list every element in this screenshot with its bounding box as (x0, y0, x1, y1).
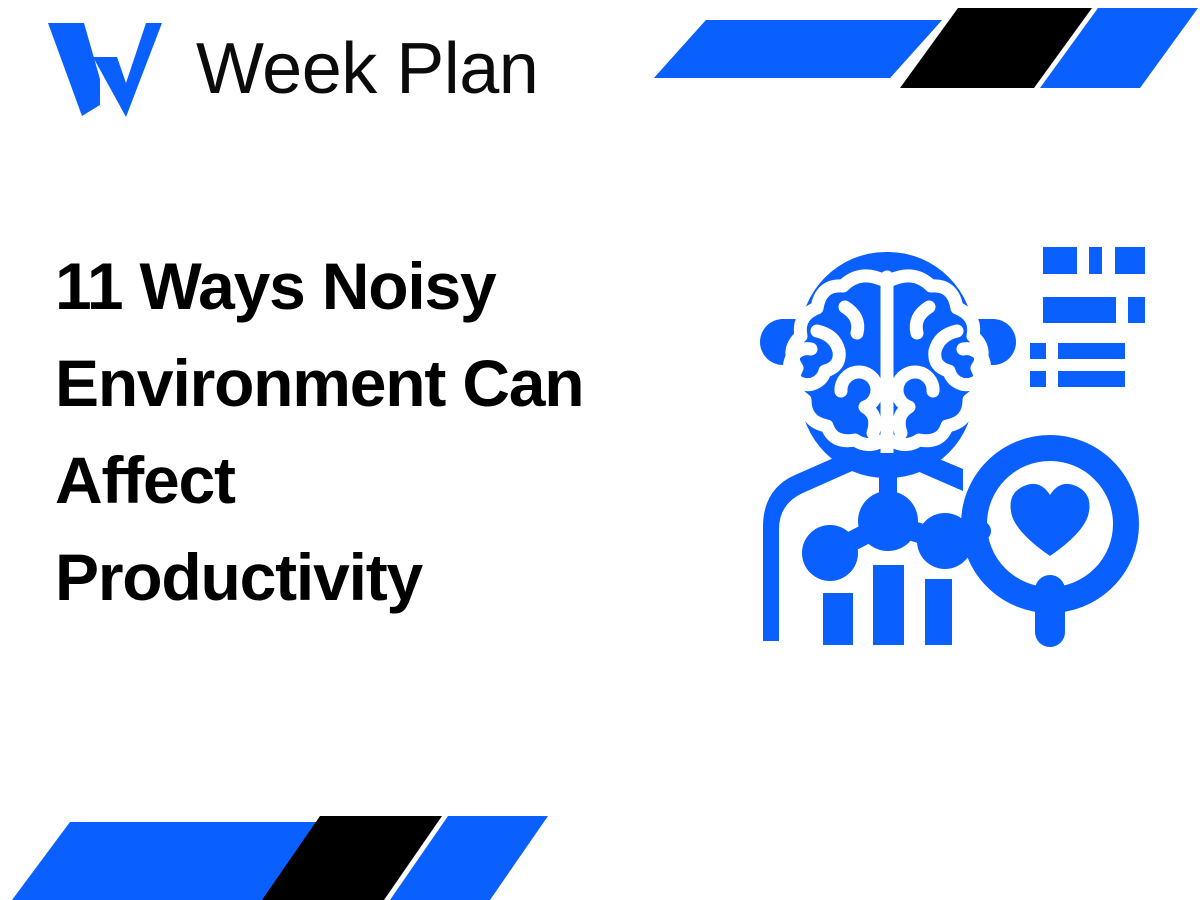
stripe-blue-narrow (1040, 8, 1198, 88)
title-line-3: Affect (55, 432, 745, 529)
heart-shape (1011, 484, 1090, 556)
title-line-4: Productivity (55, 529, 745, 626)
text-block-r3c2 (1058, 343, 1125, 359)
text-block-r4c2 (1058, 371, 1125, 387)
stripe-blue-wide (12, 822, 320, 900)
stripe-black (262, 816, 442, 900)
cover-canvas: Week Plan 11 Ways Noisy Environment Can … (0, 0, 1200, 900)
week-plan-w-logo-icon (30, 17, 162, 121)
title-line-2: Environment Can (55, 335, 745, 432)
line-graph-node-1 (802, 525, 858, 581)
brand-name: Week Plan (196, 33, 538, 105)
text-block-r2c2 (1128, 297, 1145, 323)
text-lines-icon (1030, 247, 1145, 387)
text-block-r4c1 (1030, 371, 1046, 387)
text-block-r2c1 (1043, 297, 1116, 323)
text-block-r1c2 (1089, 247, 1102, 274)
bottom-left-stripe-banner (0, 800, 620, 900)
stripe-blue-narrow (390, 816, 548, 900)
line-graph-node-2 (858, 491, 918, 551)
text-block-r1c3 (1115, 247, 1145, 274)
bar-chart-bar-1 (823, 593, 853, 645)
text-block-r1c1 (1043, 247, 1077, 274)
logo-left-stroke (48, 23, 100, 116)
brain-analytics-illustration (745, 235, 1145, 665)
text-block-r3c1 (1030, 343, 1046, 359)
bar-chart-bar-3 (925, 579, 952, 645)
brand-header: Week Plan (30, 14, 538, 124)
bar-chart-bar-2 (873, 565, 904, 645)
logo-right-v (93, 23, 162, 117)
page-title: 11 Ways Noisy Environment Can Affect Pro… (55, 238, 745, 626)
magnifier-heart-icon (974, 448, 1126, 647)
top-right-stripe-banner (640, 0, 1200, 110)
title-line-1: 11 Ways Noisy (55, 238, 745, 335)
stripe-blue-wide (654, 20, 942, 78)
stripe-blue-wide-body (654, 20, 942, 78)
stripe-black (900, 8, 1092, 88)
